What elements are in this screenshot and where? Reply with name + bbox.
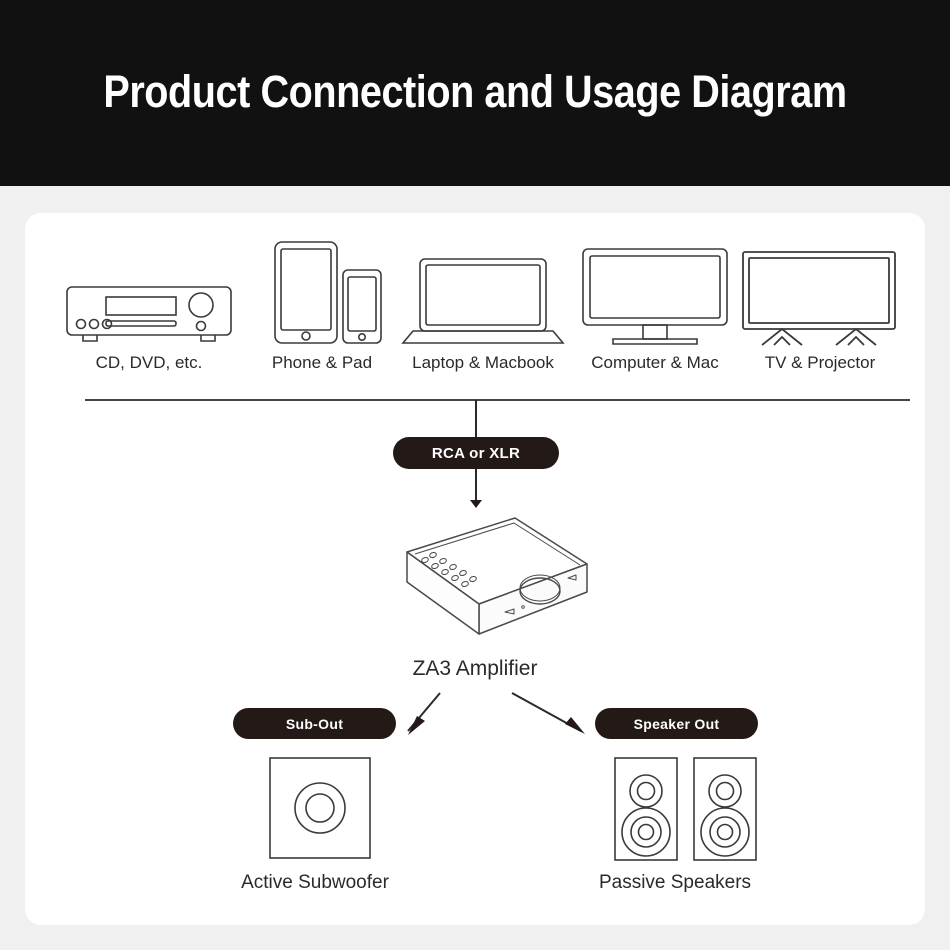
source-node-phone-pad[interactable]: Phone & Pad xyxy=(237,235,407,373)
source-label-computer: Computer & Mac xyxy=(565,353,745,373)
subwoofer-label: Active Subwoofer xyxy=(215,872,415,894)
connection-badge-sub-out[interactable]: Sub-Out xyxy=(233,708,396,739)
passive-speakers-label: Passive Speakers xyxy=(575,872,775,894)
source-label-laptop: Laptop & Macbook xyxy=(395,353,571,373)
source-label-cd-dvd: CD, DVD, etc. xyxy=(49,353,249,373)
diagram-page: Product Connection and Usage Diagram xyxy=(0,0,950,950)
amplifier-label: ZA3 Amplifier xyxy=(325,657,625,681)
header-banner: Product Connection and Usage Diagram xyxy=(0,0,950,186)
source-node-laptop[interactable]: Laptop & Macbook xyxy=(395,235,571,373)
passive-speakers-icon[interactable] xyxy=(610,753,770,870)
tv-icon xyxy=(730,235,910,347)
connection-badge-rca-xlr[interactable]: RCA or XLR xyxy=(393,437,559,469)
source-label-phone-pad: Phone & Pad xyxy=(237,353,407,373)
speakerout-arrowhead xyxy=(565,717,585,734)
source-node-tv[interactable]: TV & Projector xyxy=(730,235,910,373)
subwoofer-icon[interactable] xyxy=(265,753,375,870)
amplifier-icon[interactable] xyxy=(355,508,595,663)
page-title: Product Connection and Usage Diagram xyxy=(57,66,893,118)
connection-badge-speaker-out[interactable]: Speaker Out xyxy=(595,708,758,739)
source-node-computer[interactable]: Computer & Mac xyxy=(565,235,745,373)
tablet-and-phone-icon xyxy=(237,235,407,347)
source-label-tv: TV & Projector xyxy=(730,353,910,373)
subout-arrowhead xyxy=(408,716,425,735)
source-node-cd-dvd[interactable]: CD, DVD, etc. xyxy=(49,235,249,373)
cd-player-icon xyxy=(49,235,249,347)
monitor-icon xyxy=(565,235,745,347)
diagram-card: CD, DVD, etc. Phone xyxy=(25,213,925,925)
laptop-icon xyxy=(395,235,571,347)
